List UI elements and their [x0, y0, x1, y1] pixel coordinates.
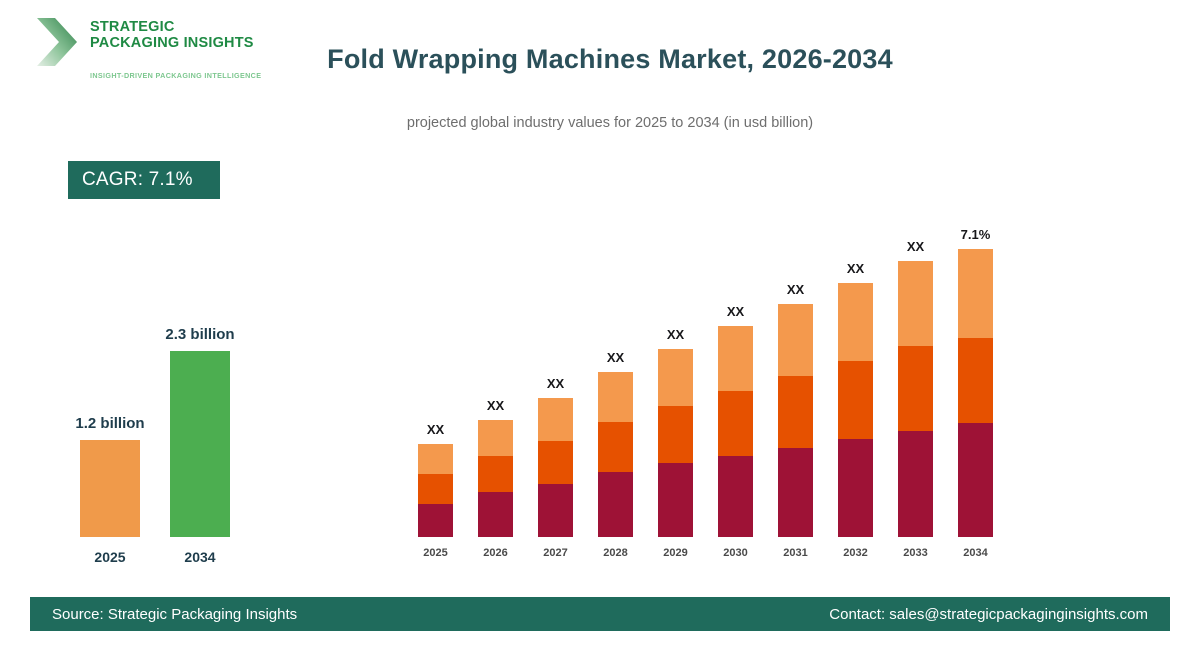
stacked-bar-year: 2034 — [946, 547, 1006, 559]
stacked-bar-year: 2033 — [886, 547, 946, 559]
summary-bar — [80, 440, 140, 537]
stacked-forecast-chart: XX2025XX2026XX2027XX2028XX2029XX2030XX20… — [400, 200, 1020, 565]
stacked-bar-segment — [958, 338, 993, 423]
stacked-bar-segment — [538, 398, 573, 441]
brand-name: STRATEGIC PACKAGING INSIGHTS — [90, 20, 254, 51]
summary-bar-value: 1.2 billion — [50, 415, 170, 432]
stacked-bar-year: 2027 — [526, 547, 586, 559]
summary-bar-year: 2025 — [65, 549, 155, 565]
footer-contact: Contact: sales@strategicpackaginginsight… — [829, 606, 1148, 623]
stacked-bar-segment — [718, 326, 753, 391]
stacked-bar — [478, 420, 513, 537]
stacked-bar-year: 2029 — [646, 547, 706, 559]
stacked-bar-segment — [898, 261, 933, 346]
stacked-bar-segment — [778, 448, 813, 537]
stacked-bar-year: 2031 — [766, 547, 826, 559]
stacked-bar-year: 2032 — [826, 547, 886, 559]
stacked-bar-year: 2028 — [586, 547, 646, 559]
stacked-bar-label: XX — [641, 327, 711, 342]
stacked-bar-segment — [718, 456, 753, 537]
stacked-bar-segment — [478, 420, 513, 456]
stacked-bar-label: XX — [821, 261, 891, 276]
cagr-badge-label: CAGR: 7.1% — [82, 169, 193, 191]
stacked-bar-segment — [898, 346, 933, 431]
summary-bar-year: 2034 — [155, 549, 245, 565]
page-subtitle: projected global industry values for 202… — [300, 115, 920, 131]
stacked-bar-segment — [958, 423, 993, 537]
summary-bar-chart: 1.2 billion20252.3 billion2034 — [40, 300, 290, 565]
stacked-bar-segment — [898, 431, 933, 537]
stacked-bar-label: 7.1% — [941, 227, 1011, 242]
stacked-bar — [718, 326, 753, 537]
stacked-bar-segment — [538, 441, 573, 484]
stacked-bar-segment — [598, 422, 633, 472]
stacked-bar-label: XX — [401, 422, 471, 437]
stacked-bar-segment — [598, 372, 633, 422]
stacked-bar-segment — [478, 492, 513, 537]
stacked-bar-label: XX — [761, 282, 831, 297]
brand-name-line1: STRATEGIC — [90, 20, 254, 36]
stacked-bar-year: 2025 — [406, 547, 466, 559]
stacked-bar-segment — [658, 349, 693, 406]
brand-name-line2: PACKAGING INSIGHTS — [90, 36, 254, 52]
stacked-bar-segment — [658, 463, 693, 537]
stacked-bar-segment — [838, 283, 873, 361]
stacked-bar-segment — [418, 504, 453, 537]
stacked-bar-segment — [958, 249, 993, 338]
stacked-bar-label: XX — [461, 398, 531, 413]
stacked-bar-segment — [418, 474, 453, 504]
footer-source: Source: Strategic Packaging Insights — [52, 606, 297, 623]
chevron-logo-mark — [33, 16, 81, 68]
stacked-bar — [838, 283, 873, 537]
stacked-bar — [958, 249, 993, 537]
brand-logo: STRATEGIC PACKAGING INSIGHTS INSIGHT-DRI… — [28, 14, 258, 76]
stacked-bar-segment — [598, 472, 633, 537]
stacked-bar — [898, 261, 933, 537]
page-title: Fold Wrapping Machines Market, 2026-2034 — [300, 44, 920, 75]
stacked-bar-segment — [478, 456, 513, 492]
stacked-bar-segment — [658, 406, 693, 463]
stacked-bar-segment — [538, 484, 573, 537]
stacked-bar — [658, 349, 693, 537]
stacked-bar-segment — [838, 361, 873, 439]
summary-bar — [170, 351, 230, 537]
stacked-bar — [598, 372, 633, 537]
stacked-bar-year: 2030 — [706, 547, 766, 559]
stacked-bar-label: XX — [701, 304, 771, 319]
stacked-bar-segment — [778, 304, 813, 376]
stacked-bar-year: 2026 — [466, 547, 526, 559]
stacked-bar — [778, 304, 813, 537]
summary-bar-value: 2.3 billion — [140, 326, 260, 343]
footer-bar: Source: Strategic Packaging Insights Con… — [30, 597, 1170, 631]
stacked-bar-segment — [838, 439, 873, 537]
stacked-bar-label: XX — [581, 350, 651, 365]
brand-tagline: INSIGHT-DRIVEN PACKAGING INTELLIGENCE — [90, 71, 261, 80]
stacked-bar-segment — [718, 391, 753, 456]
stacked-bar-segment — [418, 444, 453, 474]
cagr-badge: CAGR: 7.1% — [68, 161, 220, 199]
stacked-bar — [418, 444, 453, 537]
stacked-bar-segment — [778, 376, 813, 448]
chart-canvas: STRATEGIC PACKAGING INSIGHTS INSIGHT-DRI… — [0, 0, 1200, 650]
stacked-bar — [538, 398, 573, 537]
stacked-bar-label: XX — [521, 376, 591, 391]
